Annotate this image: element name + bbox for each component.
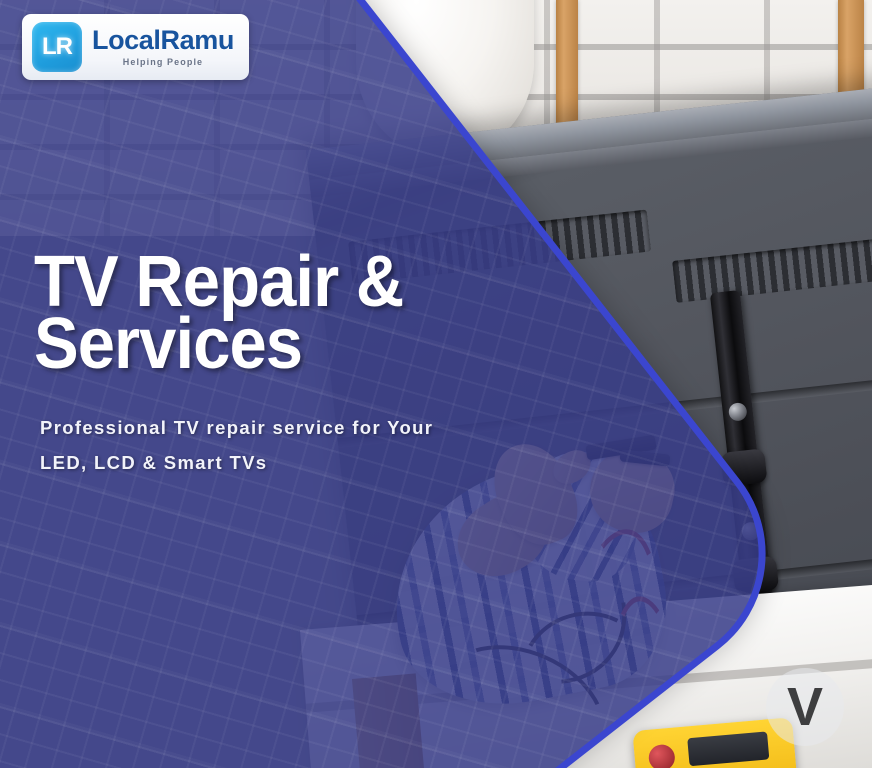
- page-title: TV Repair & Services: [34, 252, 518, 376]
- subtitle: Professional TV repair service for Your …: [40, 410, 554, 480]
- logo-tagline: Helping People: [92, 58, 234, 67]
- headline-block: TV Repair & Services Professional TV rep…: [34, 252, 554, 480]
- multimeter-input-jack: [648, 744, 676, 768]
- brand-logo[interactable]: LR LocalRamu Helping People: [22, 14, 249, 80]
- site-watermark: V: [766, 668, 844, 746]
- logo-brand-name: LocalRamu: [92, 27, 234, 54]
- television-vent-grille: [672, 229, 872, 303]
- multimeter-display: [687, 731, 769, 766]
- advertisement-banner: TV Repair & Services Professional TV rep…: [0, 0, 872, 768]
- logo-wordmark: LocalRamu Helping People: [92, 27, 234, 67]
- logo-monogram-text: LR: [42, 33, 72, 61]
- bracket-bolt: [728, 402, 748, 422]
- watermark-letter: V: [787, 680, 823, 734]
- logo-monogram-icon: LR: [32, 22, 82, 72]
